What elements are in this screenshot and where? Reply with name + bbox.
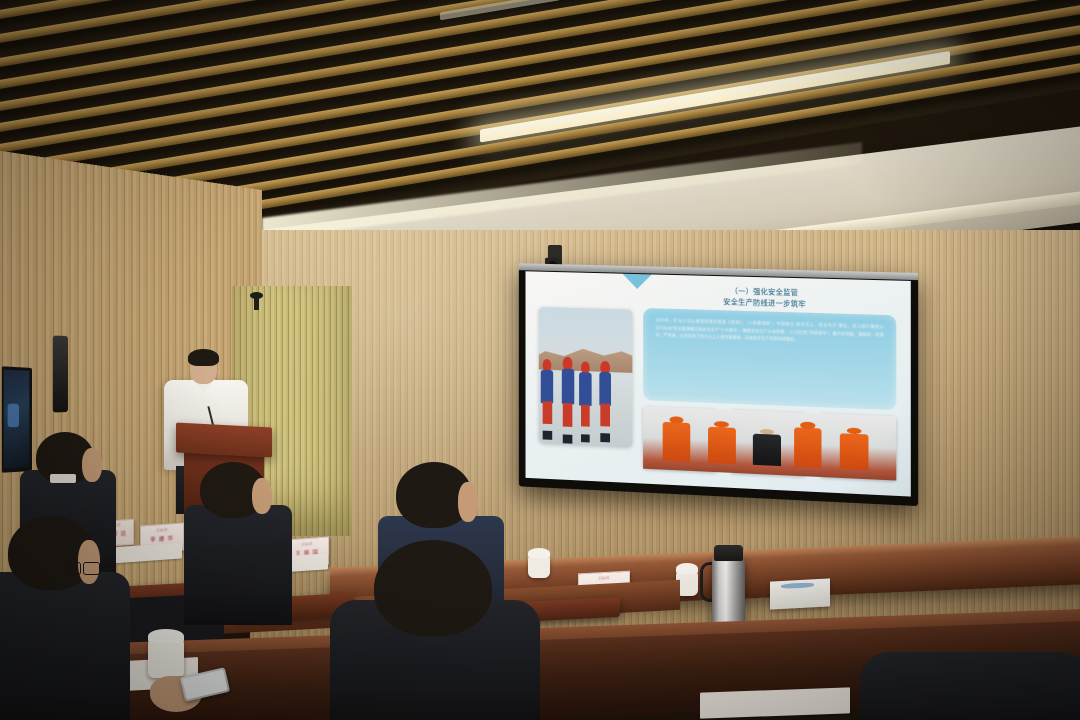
eyeglasses xyxy=(64,562,100,574)
meeting-room-scene: （一）强化安全监管 安全生产防线进一步筑牢 2024年，矿业公司认真贯彻落实国家… xyxy=(0,0,1080,720)
photo-worker xyxy=(561,357,575,437)
ceiling-microphone xyxy=(250,292,263,299)
teacup-lid xyxy=(528,548,550,558)
lidded-teacup xyxy=(528,556,550,578)
display-screen: （一）强化安全监管 安全生产防线进一步筑牢 2024年，矿业公司认真贯彻落实国家… xyxy=(525,271,910,496)
attendee-face xyxy=(458,482,478,522)
teacup-lid xyxy=(676,563,698,574)
attendee-body xyxy=(0,572,130,720)
presentation-slide: （一）强化安全监管 安全生产防线进一步筑牢 2024年，矿业公司认真贯彻落实国家… xyxy=(525,271,910,496)
wall-speaker xyxy=(53,335,68,412)
name-card-org: 矿业公司 xyxy=(286,540,328,547)
photo-worker xyxy=(540,359,554,433)
slide-thumbnail-row xyxy=(643,406,896,481)
wall-mounted-led-display[interactable]: （一）强化安全监管 安全生产防线进一步筑牢 2024年，矿业公司认真贯彻落实国家… xyxy=(519,263,918,506)
teacup-lid xyxy=(148,629,184,643)
monitor-screen xyxy=(4,369,30,468)
slide-main-photo xyxy=(538,307,632,448)
slide-body-text: 2024年，矿业公司认真贯彻落实国家《条例》、“八条硬规矩”，牢固树立“安全至上… xyxy=(656,316,884,346)
attendee-collar xyxy=(50,474,76,483)
photo-worker xyxy=(578,361,592,436)
meeting-documents xyxy=(700,687,850,718)
attendee-face xyxy=(252,478,272,514)
lidded-teacup xyxy=(148,640,184,678)
attendee-face xyxy=(82,448,102,482)
video-conference-monitor[interactable] xyxy=(2,366,32,472)
attendee-body xyxy=(184,505,292,625)
slide-thumbnail xyxy=(819,413,897,481)
name-card-org: 矿业公司 xyxy=(141,526,183,533)
thumbnail-photo-hall xyxy=(819,413,897,481)
photo-worker xyxy=(598,361,612,436)
attendee-head xyxy=(374,540,492,636)
name-card-org: 矿业公司 xyxy=(579,575,629,582)
thermos-cap xyxy=(714,545,743,561)
slide-body-textbox: 2024年，矿业公司认真贯彻落实国家《条例》、“八条硬规矩”，牢固树立“安全至上… xyxy=(643,308,896,410)
attendee-body xyxy=(860,652,1080,720)
tissue-box xyxy=(770,578,830,609)
wooden-lectern xyxy=(176,422,272,457)
presenter-hair xyxy=(188,349,219,366)
